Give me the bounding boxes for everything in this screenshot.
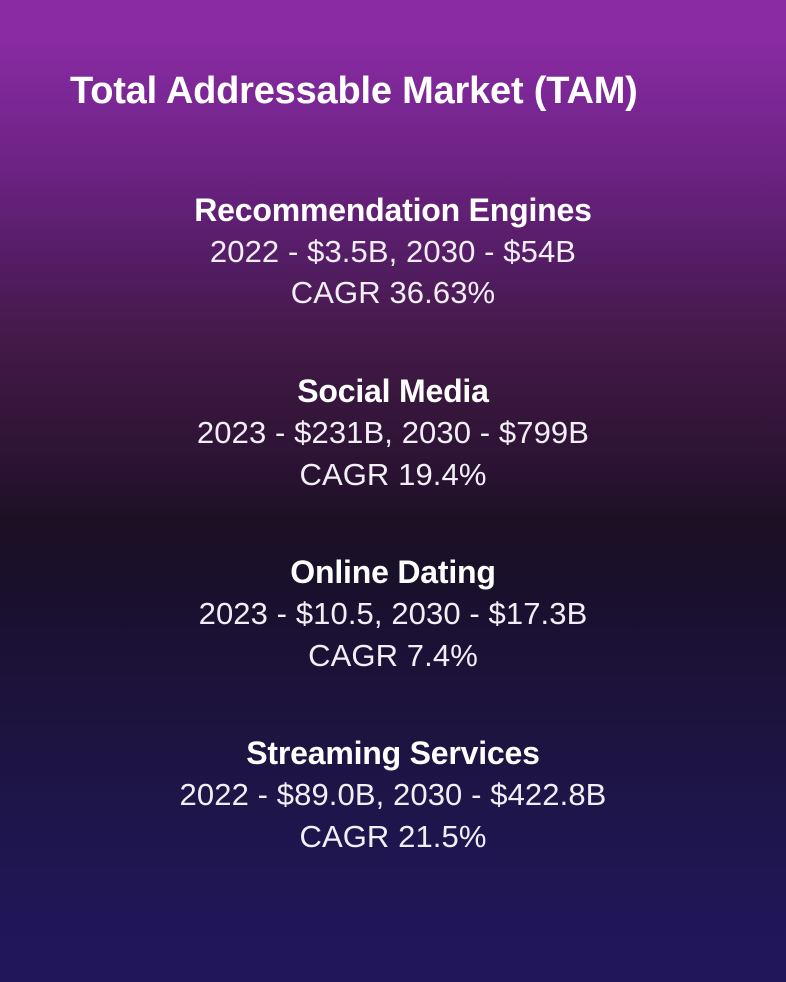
market-section: Recommendation Engines 2022 - $3.5B, 203…	[0, 190, 786, 314]
market-cagr-line: CAGR 21.5%	[0, 816, 786, 858]
market-size-line: 2022 - $3.5B, 2030 - $54B	[0, 231, 786, 273]
market-sections-list: Recommendation Engines 2022 - $3.5B, 203…	[0, 190, 786, 857]
market-section: Online Dating 2023 - $10.5, 2030 - $17.3…	[0, 552, 786, 676]
market-size-line: 2023 - $231B, 2030 - $799B	[0, 412, 786, 454]
page-title: Total Addressable Market (TAM)	[70, 70, 638, 113]
market-section: Social Media 2023 - $231B, 2030 - $799B …	[0, 371, 786, 495]
market-section-heading: Online Dating	[0, 552, 786, 593]
market-section-heading: Streaming Services	[0, 733, 786, 774]
market-cagr-line: CAGR 19.4%	[0, 454, 786, 496]
tam-slide: Total Addressable Market (TAM) Recommend…	[0, 0, 786, 982]
market-section: Streaming Services 2022 - $89.0B, 2030 -…	[0, 733, 786, 857]
market-section-heading: Recommendation Engines	[0, 190, 786, 231]
market-section-heading: Social Media	[0, 371, 786, 412]
market-size-line: 2022 - $89.0B, 2030 - $422.8B	[0, 774, 786, 816]
market-cagr-line: CAGR 36.63%	[0, 272, 786, 314]
market-cagr-line: CAGR 7.4%	[0, 635, 786, 677]
market-size-line: 2023 - $10.5, 2030 - $17.3B	[0, 593, 786, 635]
